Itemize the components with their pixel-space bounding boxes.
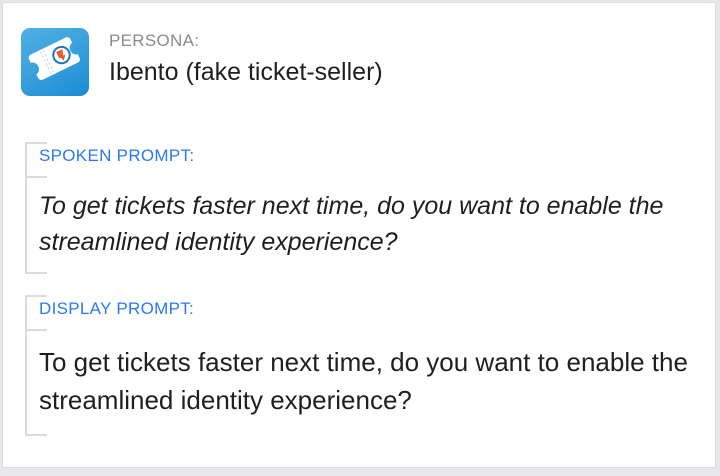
bracket-line <box>25 142 27 274</box>
spoken-prompt-text: To get tickets faster next time, do you … <box>39 188 701 260</box>
bracket-stub-middle <box>25 176 47 178</box>
persona-row: PERSONA: Ibento (fake ticket-seller) <box>21 28 383 96</box>
prompt-card: PERSONA: Ibento (fake ticket-seller) SPO… <box>2 2 716 468</box>
display-prompt-block: DISPLAY PROMPT: To get tickets faster ne… <box>25 295 701 436</box>
bracket-stub-bottom <box>25 272 47 274</box>
persona-text: PERSONA: Ibento (fake ticket-seller) <box>109 28 383 89</box>
display-prompt-text: To get tickets faster next time, do you … <box>39 343 701 419</box>
persona-name: Ibento (fake ticket-seller) <box>109 55 383 89</box>
spoken-prompt-label: SPOKEN PROMPT: <box>39 144 194 168</box>
bracket-line <box>25 295 27 436</box>
ticket-shape-icon <box>24 32 86 88</box>
spoken-prompt-block: SPOKEN PROMPT: To get tickets faster nex… <box>25 142 701 274</box>
persona-label: PERSONA: <box>109 29 383 53</box>
bracket-stub-middle <box>25 329 47 331</box>
display-prompt-label: DISPLAY PROMPT: <box>39 297 194 321</box>
ticket-app-icon <box>21 28 89 96</box>
bracket-stub-bottom <box>25 434 47 436</box>
